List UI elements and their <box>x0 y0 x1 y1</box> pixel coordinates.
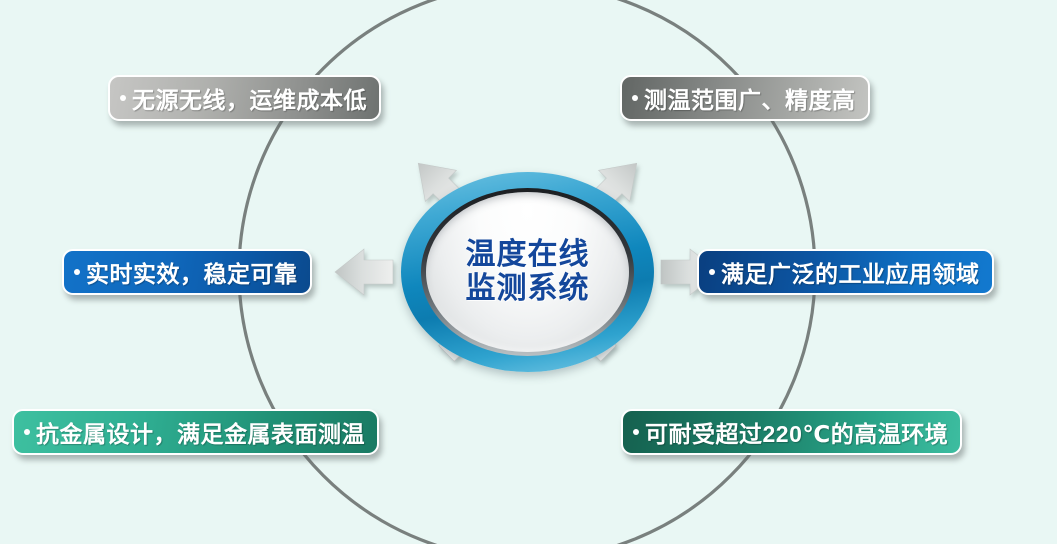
bullet-icon <box>709 269 715 275</box>
bullet-icon <box>632 95 638 101</box>
feature-label-text: 实时实效，稳定可靠 <box>86 255 298 289</box>
feature-label-top-right[interactable]: 测温范围广、精度高 <box>620 75 870 121</box>
feature-label-right[interactable]: 满足广泛的工业应用领域 <box>697 249 994 295</box>
feature-label-text: 抗金属设计，满足金属表面测温 <box>36 415 365 449</box>
feature-label-left[interactable]: 实时实效，稳定可靠 <box>62 249 312 295</box>
bullet-icon <box>24 429 30 435</box>
feature-label-text: 测温范围广、精度高 <box>644 81 856 115</box>
arrow-left <box>335 249 393 295</box>
feature-label-text: 可耐受超过220℃的高温环境 <box>645 415 948 449</box>
feature-label-bottom-left[interactable]: 抗金属设计，满足金属表面测温 <box>12 409 379 455</box>
feature-label-text: 无源无线，运维成本低 <box>132 81 367 115</box>
bullet-icon <box>120 95 126 101</box>
feature-label-bottom-right[interactable]: 可耐受超过220℃的高温环境 <box>621 409 962 455</box>
diagram-canvas: 温度在线 监测系统 无源无线，运维成本低 测温范围广、精度高 实时实效，稳定可靠… <box>0 0 1057 544</box>
hub-title-line-1: 温度在线 <box>466 238 590 272</box>
hub-title-line-2: 监测系统 <box>466 272 590 306</box>
center-hub: 温度在线 监测系统 <box>401 172 654 372</box>
feature-label-top-left[interactable]: 无源无线，运维成本低 <box>108 75 381 121</box>
hub-face: 温度在线 监测系统 <box>426 192 629 352</box>
bullet-icon <box>74 269 80 275</box>
feature-label-text: 满足广泛的工业应用领域 <box>721 255 980 289</box>
bullet-icon <box>633 429 639 435</box>
